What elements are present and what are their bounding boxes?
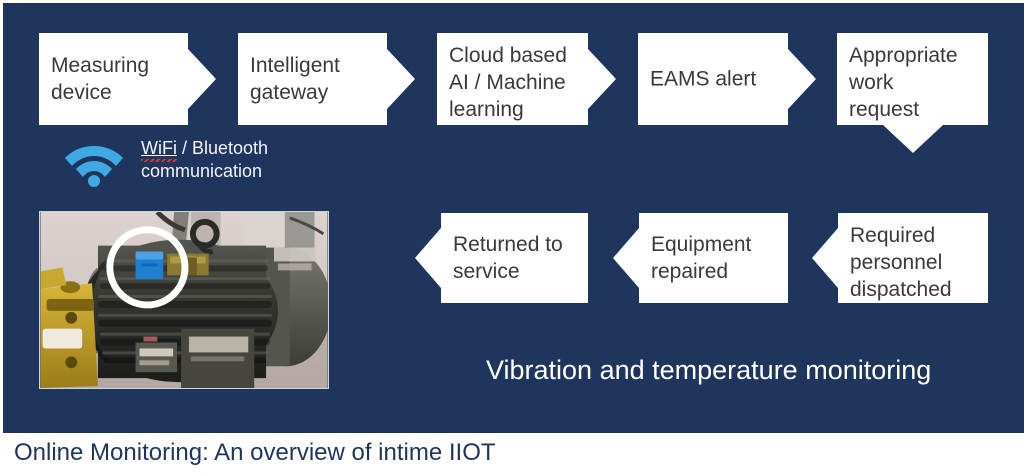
flow-box-label: Equipment repaired — [651, 231, 778, 285]
flow-box-appropriate-work-request[interactable]: Appropriate work request — [837, 33, 988, 125]
flow-box-equipment-repaired[interactable]: Equipment repaired — [639, 213, 788, 303]
wireless-label-spellchecked: WiFi — [141, 138, 177, 158]
flow-box-label: EAMS alert — [650, 66, 778, 93]
chevron-right-icon — [387, 49, 415, 109]
flow-box-label: Returned to service — [453, 231, 578, 285]
slide-panel: Measuring device Intelligent gateway Clo… — [0, 0, 1024, 433]
flow-box-required-personnel-dispatched[interactable]: Required personnel dispatched — [838, 213, 988, 303]
vibration-monitoring-label: Vibration and temperature monitoring — [486, 354, 931, 387]
flow-box-label: Appropriate work request — [849, 42, 978, 123]
slide-caption: Online Monitoring: An overview of intime… — [14, 438, 496, 468]
chevron-right-icon — [788, 49, 816, 109]
flow-box-cloud-ai-machine-learning[interactable]: Cloud based AI / Machine learning — [437, 33, 588, 125]
wireless-communication-block: WiFi / Bluetooth communication — [63, 137, 393, 193]
chevron-left-icon — [812, 228, 838, 288]
flow-box-eams-alert[interactable]: EAMS alert — [638, 33, 788, 125]
flow-box-label: Required personnel dispatched — [850, 222, 978, 303]
chevron-left-icon — [415, 228, 441, 288]
wifi-icon — [63, 141, 125, 187]
chevron-right-icon — [188, 49, 216, 109]
flow-box-label: Measuring device — [51, 52, 178, 106]
flow-box-measuring-device[interactable]: Measuring device — [39, 33, 188, 125]
flow-box-intelligent-gateway[interactable]: Intelligent gateway — [238, 33, 387, 125]
motor-photo — [39, 211, 329, 389]
chevron-left-icon — [613, 228, 639, 288]
chevron-down-icon — [883, 125, 943, 153]
flow-box-label: Cloud based AI / Machine learning — [449, 42, 578, 123]
wireless-label: WiFi / Bluetooth communication — [141, 137, 268, 183]
flow-box-returned-to-service[interactable]: Returned to service — [441, 213, 588, 303]
flow-box-label: Intelligent gateway — [250, 52, 377, 106]
chevron-right-icon — [588, 49, 616, 109]
